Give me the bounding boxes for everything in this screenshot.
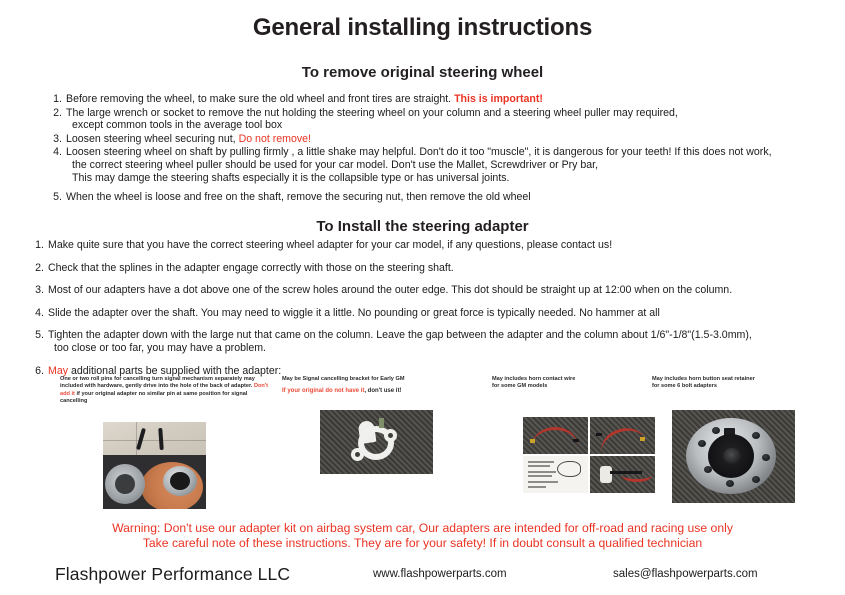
list-item: 2. Check that the splines in the adapter… <box>0 262 845 275</box>
part-horn-button-seat-retainer: May includes horn button seat retainer f… <box>652 376 837 391</box>
photo-gm-bracket <box>320 410 433 474</box>
step-text-cont: the correct steering wheel puller should… <box>66 159 813 172</box>
caption-line-2: If your original do not have it, don't u… <box>282 388 462 395</box>
list-item: 3. Most of our adapters have a dot above… <box>0 284 845 297</box>
part-caption: May be Signal cancelling bracket for Ear… <box>282 376 462 396</box>
step-text: When the wheel is loose and free on the … <box>66 191 531 203</box>
warning-line-1: Warning: Don't use our adapter kit on ai… <box>112 521 733 535</box>
safety-warning: Warning: Don't use our adapter kit on ai… <box>0 521 845 551</box>
photo-horn-contact-wire <box>522 416 656 494</box>
list-item: 1. Make quite sure that you have the cor… <box>0 239 845 252</box>
step-number: 4. <box>48 146 62 159</box>
caption-line-2: for some GM models <box>492 383 652 390</box>
part-gm-bracket: May be Signal cancelling bracket for Ear… <box>282 376 462 396</box>
step-text: Slide the adapter over the shaft. You ma… <box>48 307 660 319</box>
photo-horn-button-seat-retainer <box>672 410 795 503</box>
list-item: 5. When the wheel is loose and free on t… <box>0 191 845 204</box>
step-number: 2. <box>48 107 62 120</box>
step-number: 3. <box>30 284 44 297</box>
page-title: General installing instructions <box>0 14 845 42</box>
list-item: 5. Tighten the adapter down with the lar… <box>0 329 845 354</box>
install-steps-list: 1. Make quite sure that you have the cor… <box>0 239 845 387</box>
step-number: 5. <box>48 191 62 204</box>
caption-emphasis: If your original do not have it <box>282 388 364 394</box>
caption-line-1: May includes horn button seat retainer <box>652 376 837 383</box>
step-emphasis: May <box>48 365 68 377</box>
step-text: Before removing the wheel, to make sure … <box>66 93 454 105</box>
step-text: additional parts be supplied with the ad… <box>68 365 281 377</box>
step-number: 2. <box>30 262 44 275</box>
part-caption: One or two roll pins for cancelling turn… <box>60 376 270 406</box>
part-horn-contact-wire: May includes horn contact wire for some … <box>492 376 652 391</box>
step-text-cont: This may damge the steering shafts espec… <box>66 172 813 185</box>
step-number: 1. <box>30 239 44 252</box>
step-text-cont: except common tools in the average tool … <box>66 119 813 132</box>
list-item: 2. The large wrench or socket to remove … <box>0 107 845 132</box>
part-roll-pins: One or two roll pins for cancelling turn… <box>60 376 270 406</box>
company-name: Flashpower Performance LLC <box>55 564 290 585</box>
caption-text: May be Signal cancelling bracket for Ear… <box>282 376 404 382</box>
section-heading-remove: To remove original steering wheel <box>0 64 845 81</box>
step-number: 5. <box>30 329 44 342</box>
step-text: Most of our adapters have a dot above on… <box>48 284 732 296</box>
step-emphasis: This is important! <box>454 93 543 105</box>
caption-text: One or two roll pins for cancelling turn… <box>60 376 255 389</box>
caption-text-post: , don't use it! <box>364 388 401 394</box>
footer: Flashpower Performance LLC www.flashpowe… <box>0 564 845 590</box>
photo-roll-pins <box>103 422 206 509</box>
step-text-cont: too close or too far, you may have a pro… <box>48 342 813 355</box>
remove-steps-list: 1. Before removing the wheel, to make su… <box>0 93 845 205</box>
website-url[interactable]: www.flashpowerparts.com <box>373 568 507 580</box>
section-heading-install: To Install the steering adapter <box>0 218 845 235</box>
part-caption: May includes horn contact wire for some … <box>492 376 652 391</box>
step-number: 1. <box>48 93 62 106</box>
step-emphasis: Do not remove! <box>239 133 311 145</box>
optional-parts-gallery: One or two roll pins for cancelling turn… <box>0 376 845 512</box>
step-number: 3. <box>48 133 62 146</box>
caption-line-2: for some 6 bolt adapters <box>652 383 837 390</box>
step-text: Loosen steering wheel on shaft by pullin… <box>66 146 772 158</box>
step-text: Loosen steering wheel securing nut, <box>66 133 239 145</box>
warning-line-2: Take careful note of these instructions.… <box>0 536 845 551</box>
list-item: 1. Before removing the wheel, to make su… <box>0 93 845 106</box>
step-text: Tighten the adapter down with the large … <box>48 329 752 341</box>
caption-line-1: May includes horn contact wire <box>492 376 652 383</box>
part-caption: May includes horn button seat retainer f… <box>652 376 837 391</box>
email-address[interactable]: sales@flashpowerparts.com <box>613 568 758 580</box>
step-text: Check that the splines in the adapter en… <box>48 262 454 274</box>
step-text: Make quite sure that you have the correc… <box>48 239 612 251</box>
step-text: The large wrench or socket to remove the… <box>66 107 678 119</box>
list-item: 4. Slide the adapter over the shaft. You… <box>0 307 845 320</box>
instruction-sheet: General installing instructions To remov… <box>0 0 845 595</box>
list-item: 3. Loosen steering wheel securing nut, D… <box>0 133 845 146</box>
step-number: 4. <box>30 307 44 320</box>
list-item: 4. Loosen steering wheel on shaft by pul… <box>0 146 845 184</box>
caption-text-post: if your original adapter no similar pin … <box>60 391 247 404</box>
